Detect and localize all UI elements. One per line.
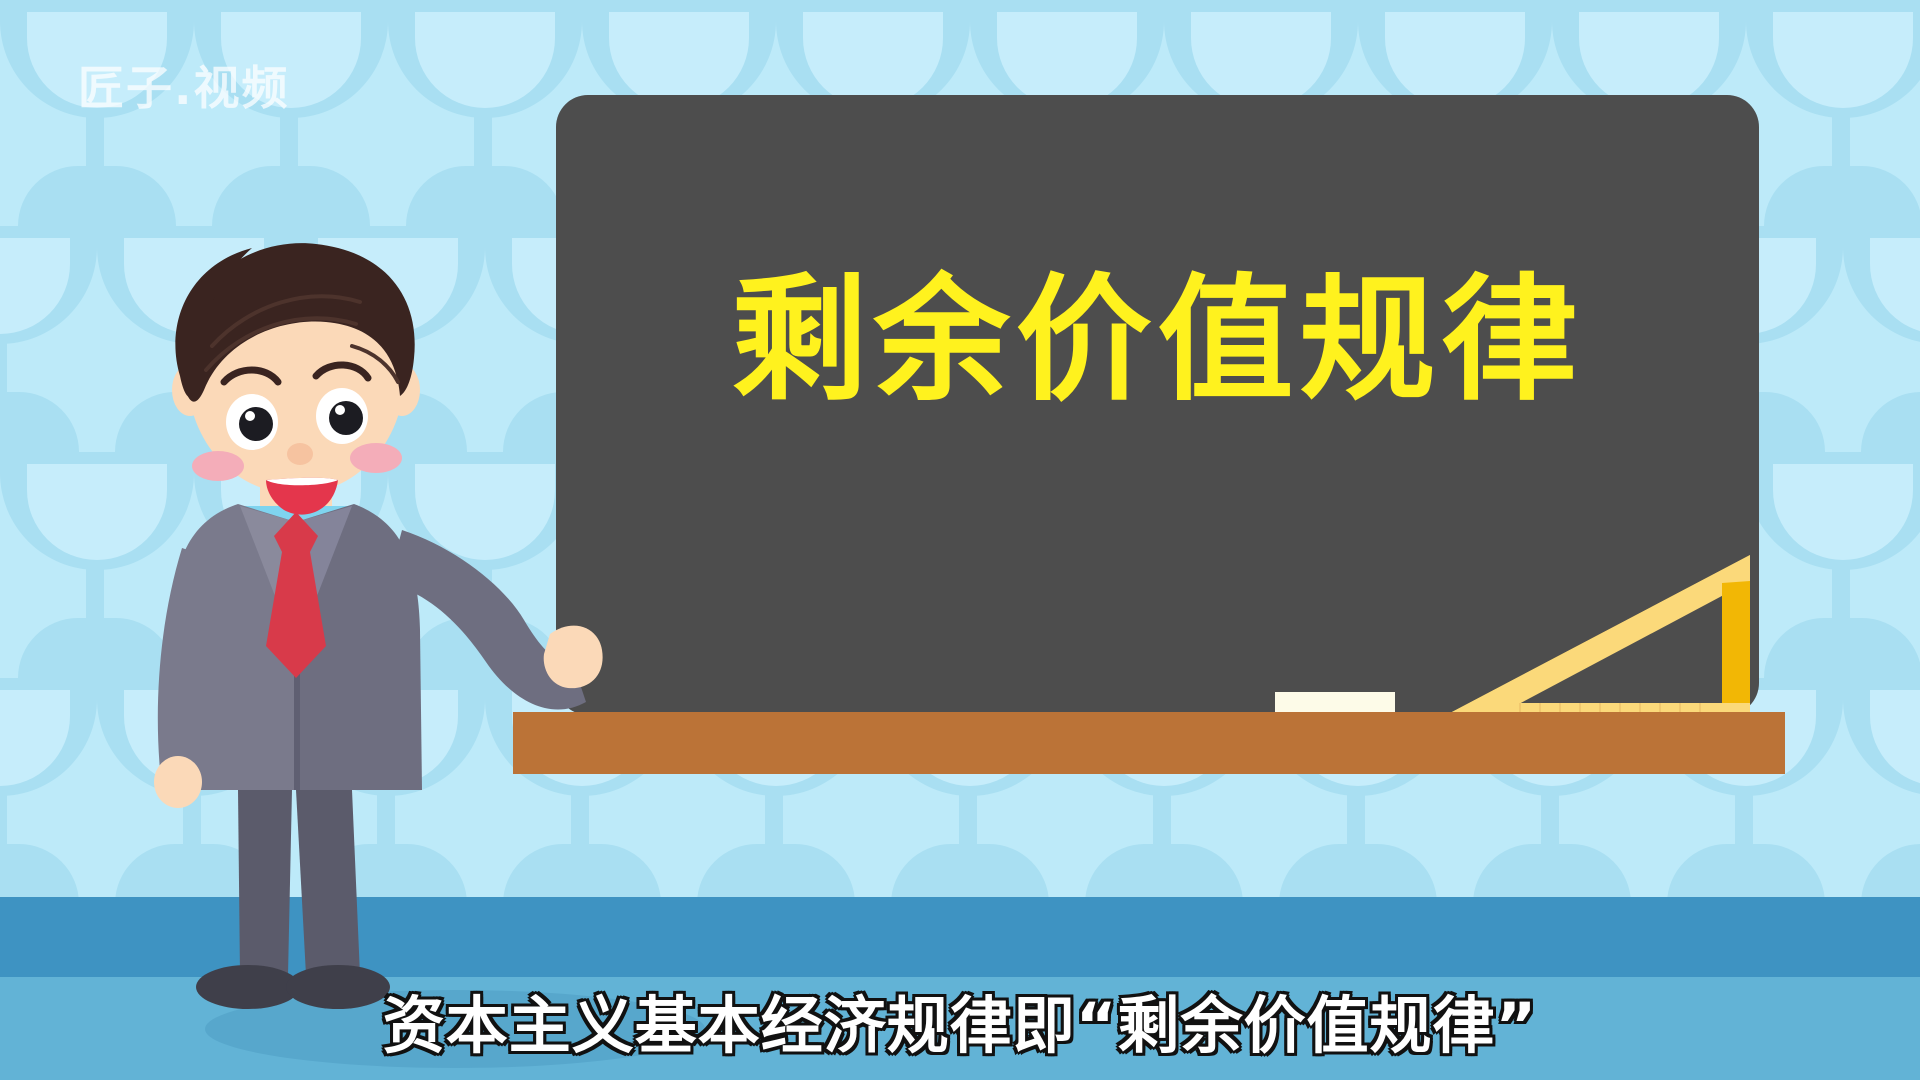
chalk-icon (1275, 692, 1395, 714)
wall-pattern-tile (1843, 678, 1920, 913)
wall-pattern-tile (1746, 0, 1920, 235)
cartoon-teacher (120, 230, 640, 1030)
subtitle-caption: 资本主义基本经济规律即“剩余价值规律” (0, 975, 1920, 1065)
blackboard-ledge (513, 712, 1785, 774)
watermark-logo: 匠子.视频 (78, 52, 289, 118)
blackboard-title: 剩余价值规律 (556, 273, 1759, 409)
wall-pattern-tile (1843, 226, 1920, 461)
video-frame: 匠子.视频 剩余价值规律 (0, 0, 1920, 1080)
wall-pattern-tile (1746, 452, 1920, 687)
triangle-ruler-icon (1450, 555, 1760, 713)
wall-pattern-tile (0, 678, 97, 913)
wall-pattern-tile (0, 226, 97, 461)
wall-pattern-tile (388, 0, 582, 235)
